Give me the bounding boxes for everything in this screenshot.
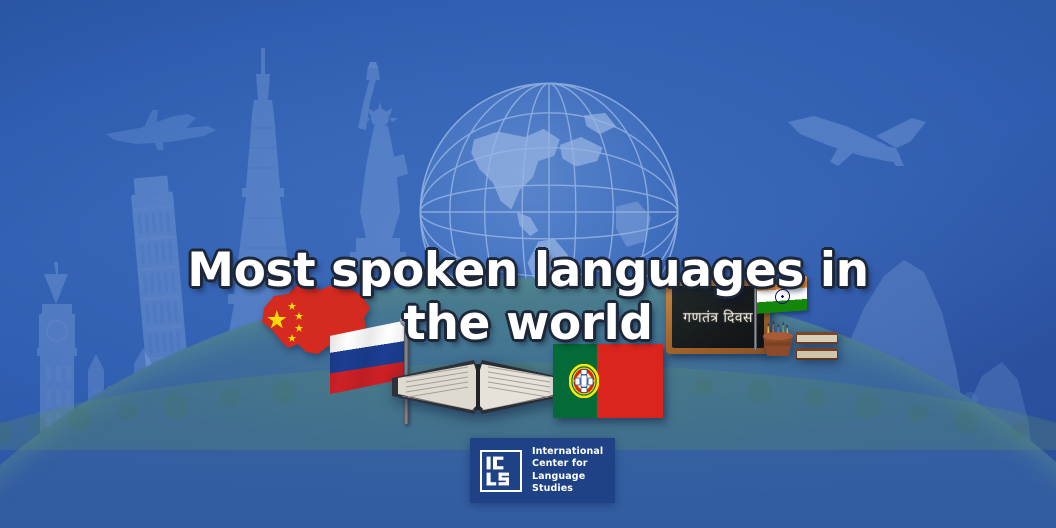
icls-wordmark-line-4: Studies	[532, 483, 603, 495]
banner-image: गणतंत्र दिवस	[0, 0, 1056, 528]
page-title-line-1: Most spoken languages in	[120, 245, 936, 298]
airplane-right-icon	[780, 100, 935, 178]
icls-wordmark-line-2: Center for	[532, 458, 603, 470]
icls-wordmark-line-3: Language	[532, 471, 603, 483]
airplane-left-icon	[100, 104, 220, 156]
icls-wordmark-line-1: International	[532, 446, 603, 458]
icls-logo[interactable]: International Center for Language Studie…	[470, 438, 615, 503]
portugal-flag-icon	[553, 344, 663, 418]
page-title-line-2: the world	[120, 298, 936, 351]
statue-of-liberty-icon	[330, 62, 422, 272]
portugal-flag-red-band	[597, 344, 663, 418]
page-title: Most spoken languages in the world	[0, 245, 1056, 350]
portugal-coat-of-arms-icon	[569, 364, 599, 398]
icls-logo-mark-icon	[480, 450, 522, 492]
icls-wordmark: International Center for Language Studie…	[532, 446, 603, 495]
open-book-icon	[388, 352, 568, 424]
